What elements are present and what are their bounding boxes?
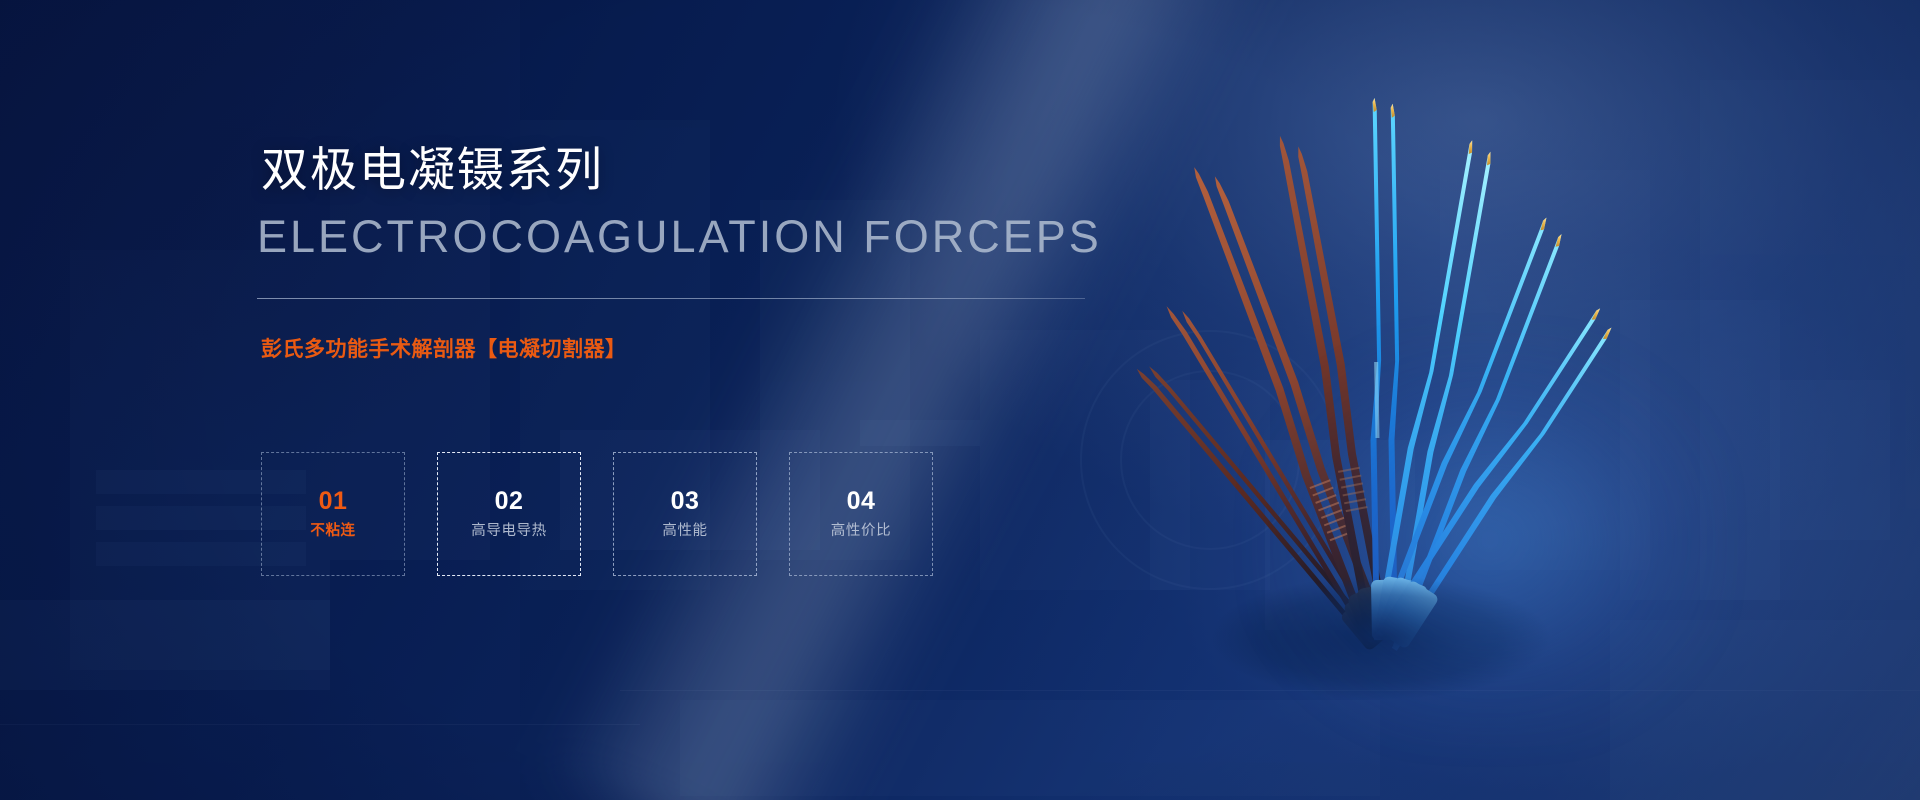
feature-number: 04 [847, 489, 876, 514]
feature-number: 03 [671, 489, 700, 514]
feature-box-04[interactable]: 04 高性价比 [789, 452, 933, 576]
feature-number: 02 [495, 489, 524, 514]
feature-label: 高性能 [662, 524, 707, 539]
feature-box-03[interactable]: 03 高性能 [613, 452, 757, 576]
product-image-forceps [1080, 40, 1700, 720]
feature-label: 高性价比 [831, 524, 891, 539]
page-title: 双极电凝镊系列 [261, 144, 604, 196]
page-subtitle-english: ELECTROCOAGULATION FORCEPS [257, 212, 1102, 262]
feature-label: 不粘连 [310, 524, 355, 539]
feature-box-02[interactable]: 02 高导电导热 [437, 452, 581, 576]
product-banner: 双极电凝镊系列 ELECTROCOAGULATION FORCEPS 彭氏多功能… [0, 0, 1920, 800]
divider [257, 298, 1085, 299]
feature-label: 高导电导热 [471, 524, 547, 539]
feature-number: 01 [319, 489, 348, 514]
banner-content: 双极电凝镊系列 ELECTROCOAGULATION FORCEPS 彭氏多功能… [261, 0, 1161, 800]
product-subtitle: 彭氏多功能手术解剖器【电凝切割器】 [261, 336, 627, 363]
feature-box-01[interactable]: 01 不粘连 [261, 452, 405, 576]
feature-list: 01 不粘连 02 高导电导热 03 高性能 04 高性价比 [261, 452, 933, 576]
forceps-glow [1260, 340, 1720, 740]
